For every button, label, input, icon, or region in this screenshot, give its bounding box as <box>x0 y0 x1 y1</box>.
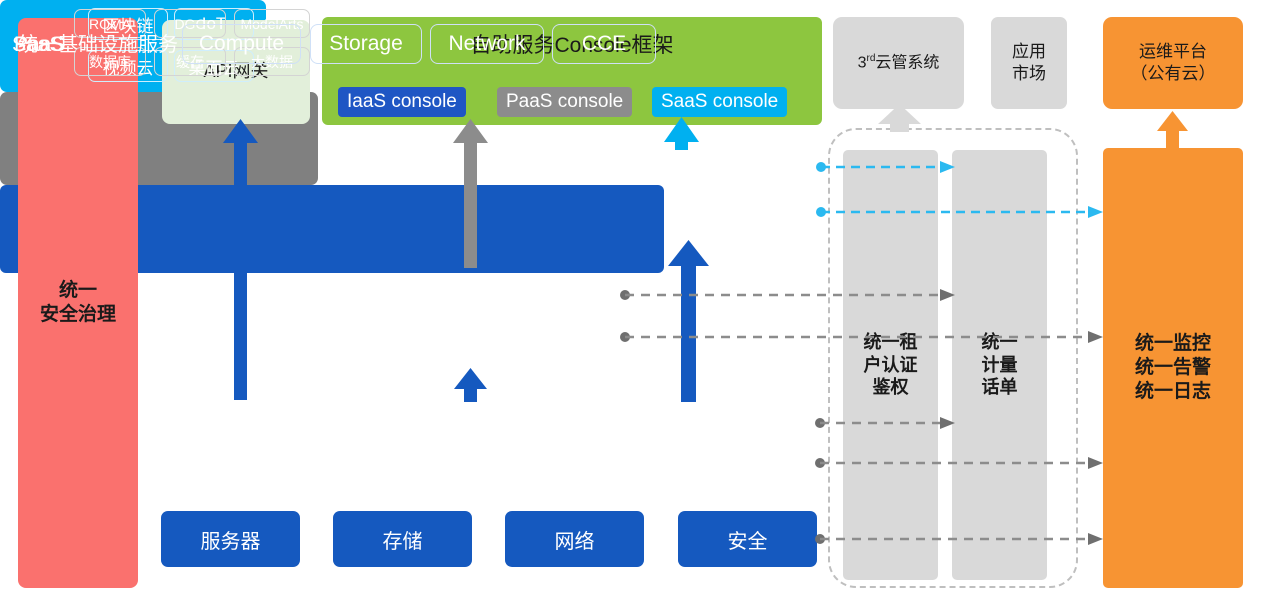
app-market-box: 应用 市场 <box>991 17 1067 109</box>
shared-service-metering-billing-label: 统一 计量 话单 <box>982 331 1018 399</box>
paas-console-label: PaaS console <box>506 90 623 114</box>
arrow-infra-to-saas <box>668 240 709 402</box>
paas-console-chip[interactable]: PaaS console <box>497 87 632 117</box>
security-governance-panel: 统一 安全治理 <box>18 18 138 588</box>
saas-console-label: SaaS console <box>661 90 778 114</box>
security-governance-label: 统一 安全治理 <box>40 279 116 328</box>
resource-box-storage-label: 存储 <box>383 525 423 554</box>
app-market-line1: 应用 <box>1012 41 1046 63</box>
metering-line1: 统一 <box>982 331 1018 354</box>
ops-monitoring-panel: 统一监控 统一告警 统一日志 <box>1103 148 1243 588</box>
ops-platform-line2: （公有云） <box>1131 63 1216 85</box>
resource-box-network-label: 网络 <box>555 525 595 554</box>
ops-platform-line1: 运维平台 <box>1131 41 1216 63</box>
resource-box-security-label: 安全 <box>728 525 768 554</box>
unified-infrastructure-label: 统一基础设施服务 <box>18 28 178 57</box>
ops-platform-label: 运维平台 （公有云） <box>1131 41 1216 85</box>
iaas-console-chip[interactable]: IaaS console <box>338 87 466 117</box>
security-governance-line1: 统一 <box>40 279 116 303</box>
arrow-infra-to-paas <box>454 368 487 402</box>
resource-box-storage[interactable]: 存储 <box>333 511 472 567</box>
resource-box-server-label: 服务器 <box>201 525 261 554</box>
metering-line2: 计量 <box>982 354 1018 377</box>
resource-box-security[interactable]: 安全 <box>678 511 817 567</box>
resource-box-network[interactable]: 网络 <box>505 511 644 567</box>
ops-monitoring-line1: 统一监控 <box>1135 332 1211 356</box>
arrow-ops-panel-to-ops-platform <box>1157 111 1188 149</box>
tenant-auth-line1: 统一租 <box>864 331 918 354</box>
shared-service-tenant-auth: 统一租 户认证 鉴权 <box>843 150 938 580</box>
security-governance-line2: 安全治理 <box>40 303 116 327</box>
architecture-diagram: 统一 安全治理 API网关 自助服务Console框架 IaaS console… <box>0 0 1265 605</box>
app-market-label: 应用 市场 <box>1012 41 1046 85</box>
infra-service-cce[interactable]: CCE <box>552 24 656 64</box>
shared-service-metering-billing: 统一 计量 话单 <box>952 150 1047 580</box>
infra-service-network-label: Network <box>448 32 525 56</box>
infra-service-compute[interactable]: Compute <box>182 24 301 64</box>
ops-monitoring-line3: 统一日志 <box>1135 380 1211 404</box>
tenant-auth-line3: 鉴权 <box>864 376 918 399</box>
infra-service-cce-label: CCE <box>582 32 626 56</box>
third-party-cloud-management-box: 3rd云管系统 <box>833 17 964 109</box>
saas-console-chip[interactable]: SaaS console <box>652 87 787 117</box>
ops-monitoring-label: 统一监控 统一告警 统一日志 <box>1135 332 1211 405</box>
shared-service-tenant-auth-label: 统一租 户认证 鉴权 <box>864 331 918 399</box>
infra-service-compute-label: Compute <box>199 32 284 56</box>
ops-platform-box: 运维平台 （公有云） <box>1103 17 1243 109</box>
infra-service-storage-label: Storage <box>329 32 403 56</box>
ops-monitoring-line2: 统一告警 <box>1135 356 1211 380</box>
app-market-line2: 市场 <box>1012 63 1046 85</box>
iaas-console-label: IaaS console <box>347 90 457 114</box>
third-party-cloud-label: 3rd云管系统 <box>858 53 940 74</box>
tenant-auth-line2: 户认证 <box>864 354 918 377</box>
third-party-cloud-suffix: 云管系统 <box>875 54 939 71</box>
metering-line3: 话单 <box>982 376 1018 399</box>
infra-service-network[interactable]: Network <box>430 24 544 64</box>
resource-box-server[interactable]: 服务器 <box>161 511 300 567</box>
infra-service-storage[interactable]: Storage <box>310 24 422 64</box>
